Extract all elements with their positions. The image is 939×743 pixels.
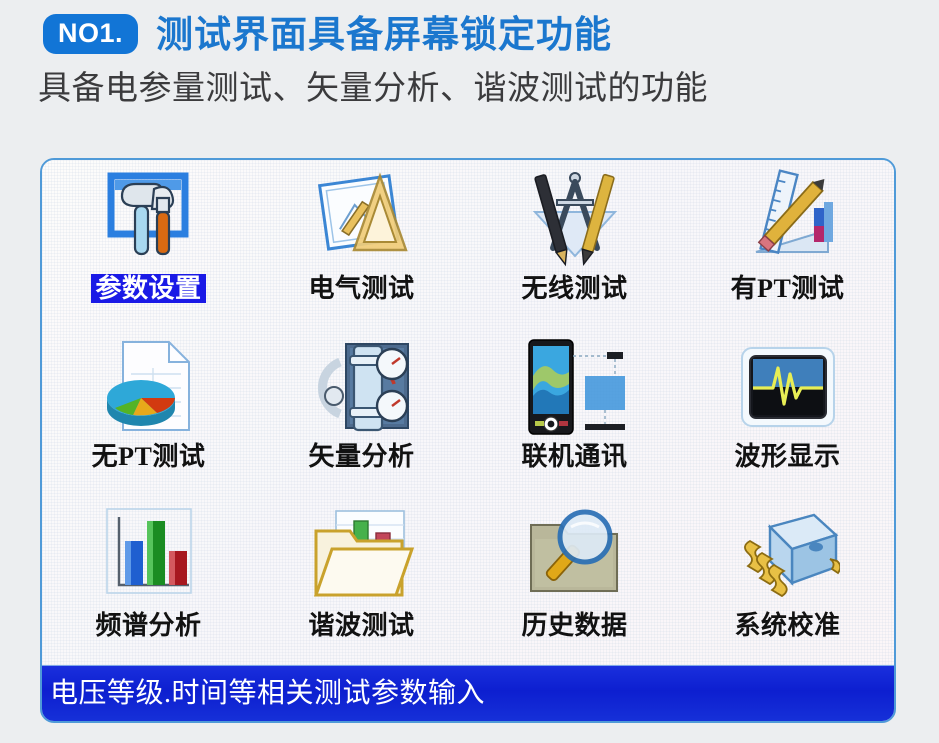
phone-sync-icon	[523, 336, 627, 440]
menu-item-electrical-test[interactable]: 电气测试	[255, 160, 468, 328]
folder-magnifier-icon	[523, 505, 627, 609]
page-title: 测试界面具备屏幕锁定功能	[156, 16, 612, 53]
menu-item-label: 频谱分析	[91, 611, 205, 640]
title-row: NO1. 测试界面具备屏幕锁定功能	[0, 0, 939, 54]
number-badge: NO1.	[43, 14, 138, 54]
menu-item-harmonic-test[interactable]: 谐波测试	[255, 497, 468, 665]
bar-chart-icon	[97, 505, 201, 609]
chip-component-icon	[736, 505, 840, 609]
status-bar: 电压等级.时间等相关测试参数输入	[42, 665, 894, 721]
menu-item-waveform-display[interactable]: 波形显示	[681, 328, 894, 496]
menu-item-label: 无线测试	[517, 274, 631, 303]
menu-item-online-communication[interactable]: 联机通讯	[468, 328, 681, 496]
menu-item-label: 历史数据	[517, 611, 631, 640]
menu-item-label: 电气测试	[304, 274, 418, 303]
menu-item-parameter-settings[interactable]: 参数设置	[42, 160, 255, 328]
menu-item-label: 无PT测试	[88, 442, 210, 471]
menu-item-without-pt-test[interactable]: 无PT测试	[42, 328, 255, 496]
menu-item-label: 谐波测试	[304, 611, 418, 640]
ruler-pencil-chart-icon	[736, 168, 840, 272]
device-screen-panel: 参数设置 电气测试	[40, 158, 896, 723]
menu-item-label: 矢量分析	[304, 442, 418, 471]
page-subtitle: 具备电参量测试、矢量分析、谐波测试的功能	[38, 70, 939, 106]
menu-item-label: 有PT测试	[727, 274, 849, 303]
menu-item-label: 波形显示	[730, 442, 844, 471]
menu-grid: 参数设置 电气测试	[42, 160, 894, 665]
waveform-monitor-icon	[736, 336, 840, 440]
menu-item-system-calibration[interactable]: 系统校准	[681, 497, 894, 665]
menu-item-label: 系统校准	[730, 611, 844, 640]
status-bar-text: 电压等级.时间等相关测试参数输入	[50, 680, 485, 708]
menu-item-label: 联机通讯	[517, 442, 631, 471]
menu-item-vector-analysis[interactable]: 矢量分析	[255, 328, 468, 496]
menu-item-history-data[interactable]: 历史数据	[468, 497, 681, 665]
pie-chart-document-icon	[97, 336, 201, 440]
menu-item-wireless-test[interactable]: 无线测试	[468, 160, 681, 328]
hammer-wrench-icon	[97, 168, 201, 272]
gauge-meter-icon	[310, 336, 414, 440]
menu-item-label: 参数设置	[91, 274, 205, 303]
menu-item-spectrum-analysis[interactable]: 频谱分析	[42, 497, 255, 665]
screen-area: 参数设置 电气测试	[42, 160, 894, 665]
folder-chart-icon	[310, 505, 414, 609]
page-header: NO1. 测试界面具备屏幕锁定功能 具备电参量测试、矢量分析、谐波测试的功能	[0, 0, 939, 106]
menu-item-with-pt-test[interactable]: 有PT测试	[681, 160, 894, 328]
compass-dividers-icon	[523, 168, 627, 272]
ruler-triangle-pencil-icon	[310, 168, 414, 272]
